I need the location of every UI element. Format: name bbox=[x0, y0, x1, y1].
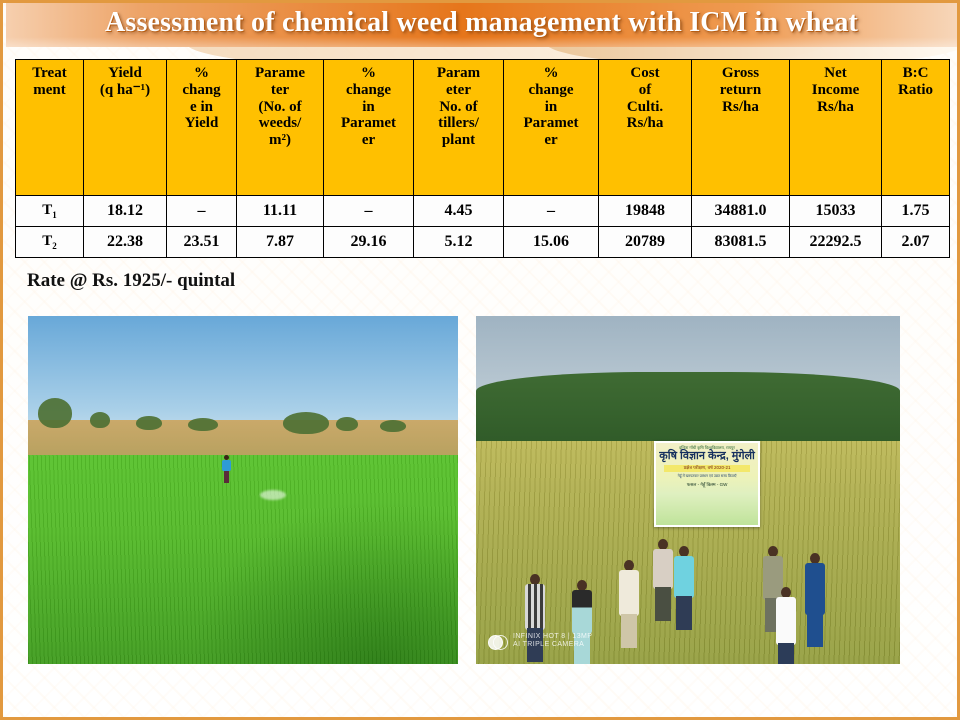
title-banner: Assessment of chemical weed management w… bbox=[6, 3, 957, 47]
rate-note: Rate @ Rs. 1925/- quintal bbox=[27, 270, 235, 292]
photo-group-with-banner: इन्दिरा गाँधी कृषि विश्वविद्यालय, रायपुर… bbox=[476, 316, 900, 664]
photo-spraying-field bbox=[28, 316, 458, 664]
tree bbox=[336, 417, 358, 431]
th-gross-return: Gross return Rs/ha bbox=[692, 60, 790, 196]
cell-net-income: 22292.5 bbox=[790, 227, 882, 258]
banner-crop-variety: फसल - गेहूँ किस्म - GW bbox=[656, 483, 758, 488]
tree bbox=[136, 416, 162, 430]
field-shadow bbox=[191, 497, 458, 664]
th-pct-change-parameter-weeds: % change in Paramet er bbox=[324, 60, 414, 196]
cell-parameter-weeds: 7.87 bbox=[237, 227, 324, 258]
cell-pct-change-parameter-weeds: 29.16 bbox=[324, 227, 414, 258]
banner-trial-year: प्रक्षेत्र परीक्षण, वर्ष 2020-21 bbox=[664, 465, 750, 472]
cell-cost-of-cultivation: 19848 bbox=[599, 196, 692, 227]
th-bc-ratio: B:C Ratio bbox=[882, 60, 950, 196]
tree bbox=[90, 412, 110, 428]
results-table-container: Treat ment Yield (q ha⁻¹) % chang e in Y… bbox=[15, 59, 949, 258]
th-parameter-tillers: Param eter No. of tillers/ plant bbox=[414, 60, 504, 196]
th-cost-of-cultivation: Cost of Culti. Rs/ha bbox=[599, 60, 692, 196]
treatment-index: 2 bbox=[52, 241, 57, 251]
cell-net-income: 15033 bbox=[790, 196, 882, 227]
banner-kvk-title: कृषि विज्ञान केन्द्र, मुंगेली bbox=[656, 451, 758, 463]
th-pct-change-yield: % chang e in Yield bbox=[167, 60, 237, 196]
th-pct-change-parameter-tillers: % change in Paramet er bbox=[504, 60, 599, 196]
cell-pct-change-parameter-tillers: – bbox=[504, 196, 599, 227]
cell-yield: 18.12 bbox=[84, 196, 167, 227]
cell-gross-return: 83081.5 bbox=[692, 227, 790, 258]
cell-bc-ratio: 2.07 bbox=[882, 227, 950, 258]
banner-topic: गेहूँ में खरपतवार प्रबंधन एवं उन्नत सस्य… bbox=[656, 475, 758, 479]
results-table: Treat ment Yield (q ha⁻¹) % chang e in Y… bbox=[15, 59, 950, 258]
cell-pct-change-yield: – bbox=[167, 196, 237, 227]
demonstration-banner: इन्दिरा गाँधी कृषि विश्वविद्यालय, रायपुर… bbox=[654, 441, 760, 527]
treatment-index: 1 bbox=[52, 210, 57, 220]
cell-parameter-tillers: 5.12 bbox=[414, 227, 504, 258]
table-row: T1 18.12 – 11.11 – 4.45 – 19848 34881.0 … bbox=[16, 196, 950, 227]
th-net-income: Net Income Rs/ha bbox=[790, 60, 882, 196]
page-title: Assessment of chemical weed management w… bbox=[6, 7, 957, 39]
camera-lens-icon bbox=[488, 635, 508, 648]
th-parameter-weeds: Parame ter (No. of weeds/ m²) bbox=[237, 60, 324, 196]
cell-cost-of-cultivation: 20789 bbox=[599, 227, 692, 258]
cell-treatment: T2 bbox=[16, 227, 84, 258]
cell-yield: 22.38 bbox=[84, 227, 167, 258]
tree-line bbox=[476, 372, 900, 449]
cell-parameter-tillers: 4.45 bbox=[414, 196, 504, 227]
cell-bc-ratio: 1.75 bbox=[882, 196, 950, 227]
tree bbox=[38, 398, 72, 428]
watermark-line-1: INFINIX HOT 8 | 13MP bbox=[513, 633, 592, 642]
cell-parameter-weeds: 11.11 bbox=[237, 196, 324, 227]
tree bbox=[283, 412, 329, 434]
tree bbox=[380, 420, 406, 432]
cell-pct-change-parameter-tillers: 15.06 bbox=[504, 227, 599, 258]
watermark-line-2: AI TRIPLE CAMERA bbox=[513, 641, 592, 650]
cell-treatment: T1 bbox=[16, 196, 84, 227]
th-treatment: Treat ment bbox=[16, 60, 84, 196]
farmer-figure bbox=[222, 455, 231, 483]
table-header-row: Treat ment Yield (q ha⁻¹) % chang e in Y… bbox=[16, 60, 950, 196]
spray-plume bbox=[260, 490, 286, 500]
table-row: T2 22.38 23.51 7.87 29.16 5.12 15.06 207… bbox=[16, 227, 950, 258]
th-yield: Yield (q ha⁻¹) bbox=[84, 60, 167, 196]
cell-gross-return: 34881.0 bbox=[692, 196, 790, 227]
cell-pct-change-yield: 23.51 bbox=[167, 227, 237, 258]
slide: Assessment of chemical weed management w… bbox=[0, 0, 960, 720]
cell-pct-change-parameter-weeds: – bbox=[324, 196, 414, 227]
watermark-text: INFINIX HOT 8 | 13MP AI TRIPLE CAMERA bbox=[513, 633, 592, 651]
tree bbox=[188, 418, 218, 431]
camera-watermark: INFINIX HOT 8 | 13MP AI TRIPLE CAMERA bbox=[488, 633, 592, 651]
